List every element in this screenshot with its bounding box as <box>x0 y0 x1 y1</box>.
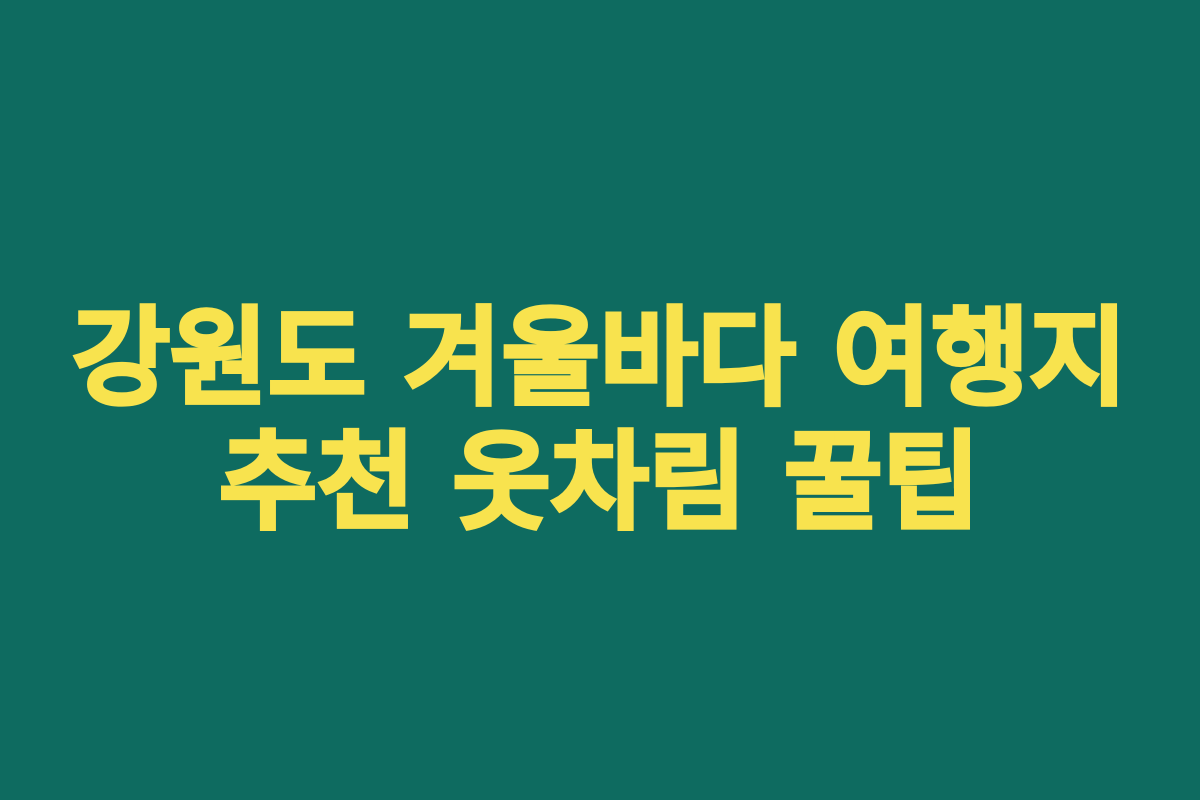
headline-line-1: 강원도 겨울바다 여행지 <box>72 297 1127 421</box>
headline-line-2: 추천 옷차림 꿀팁 <box>219 421 980 545</box>
banner-canvas: 강원도 겨울바다 여행지 추천 옷차림 꿀팁 <box>0 0 1200 800</box>
headline-block: 강원도 겨울바다 여행지 추천 옷차림 꿀팁 <box>0 297 1200 545</box>
